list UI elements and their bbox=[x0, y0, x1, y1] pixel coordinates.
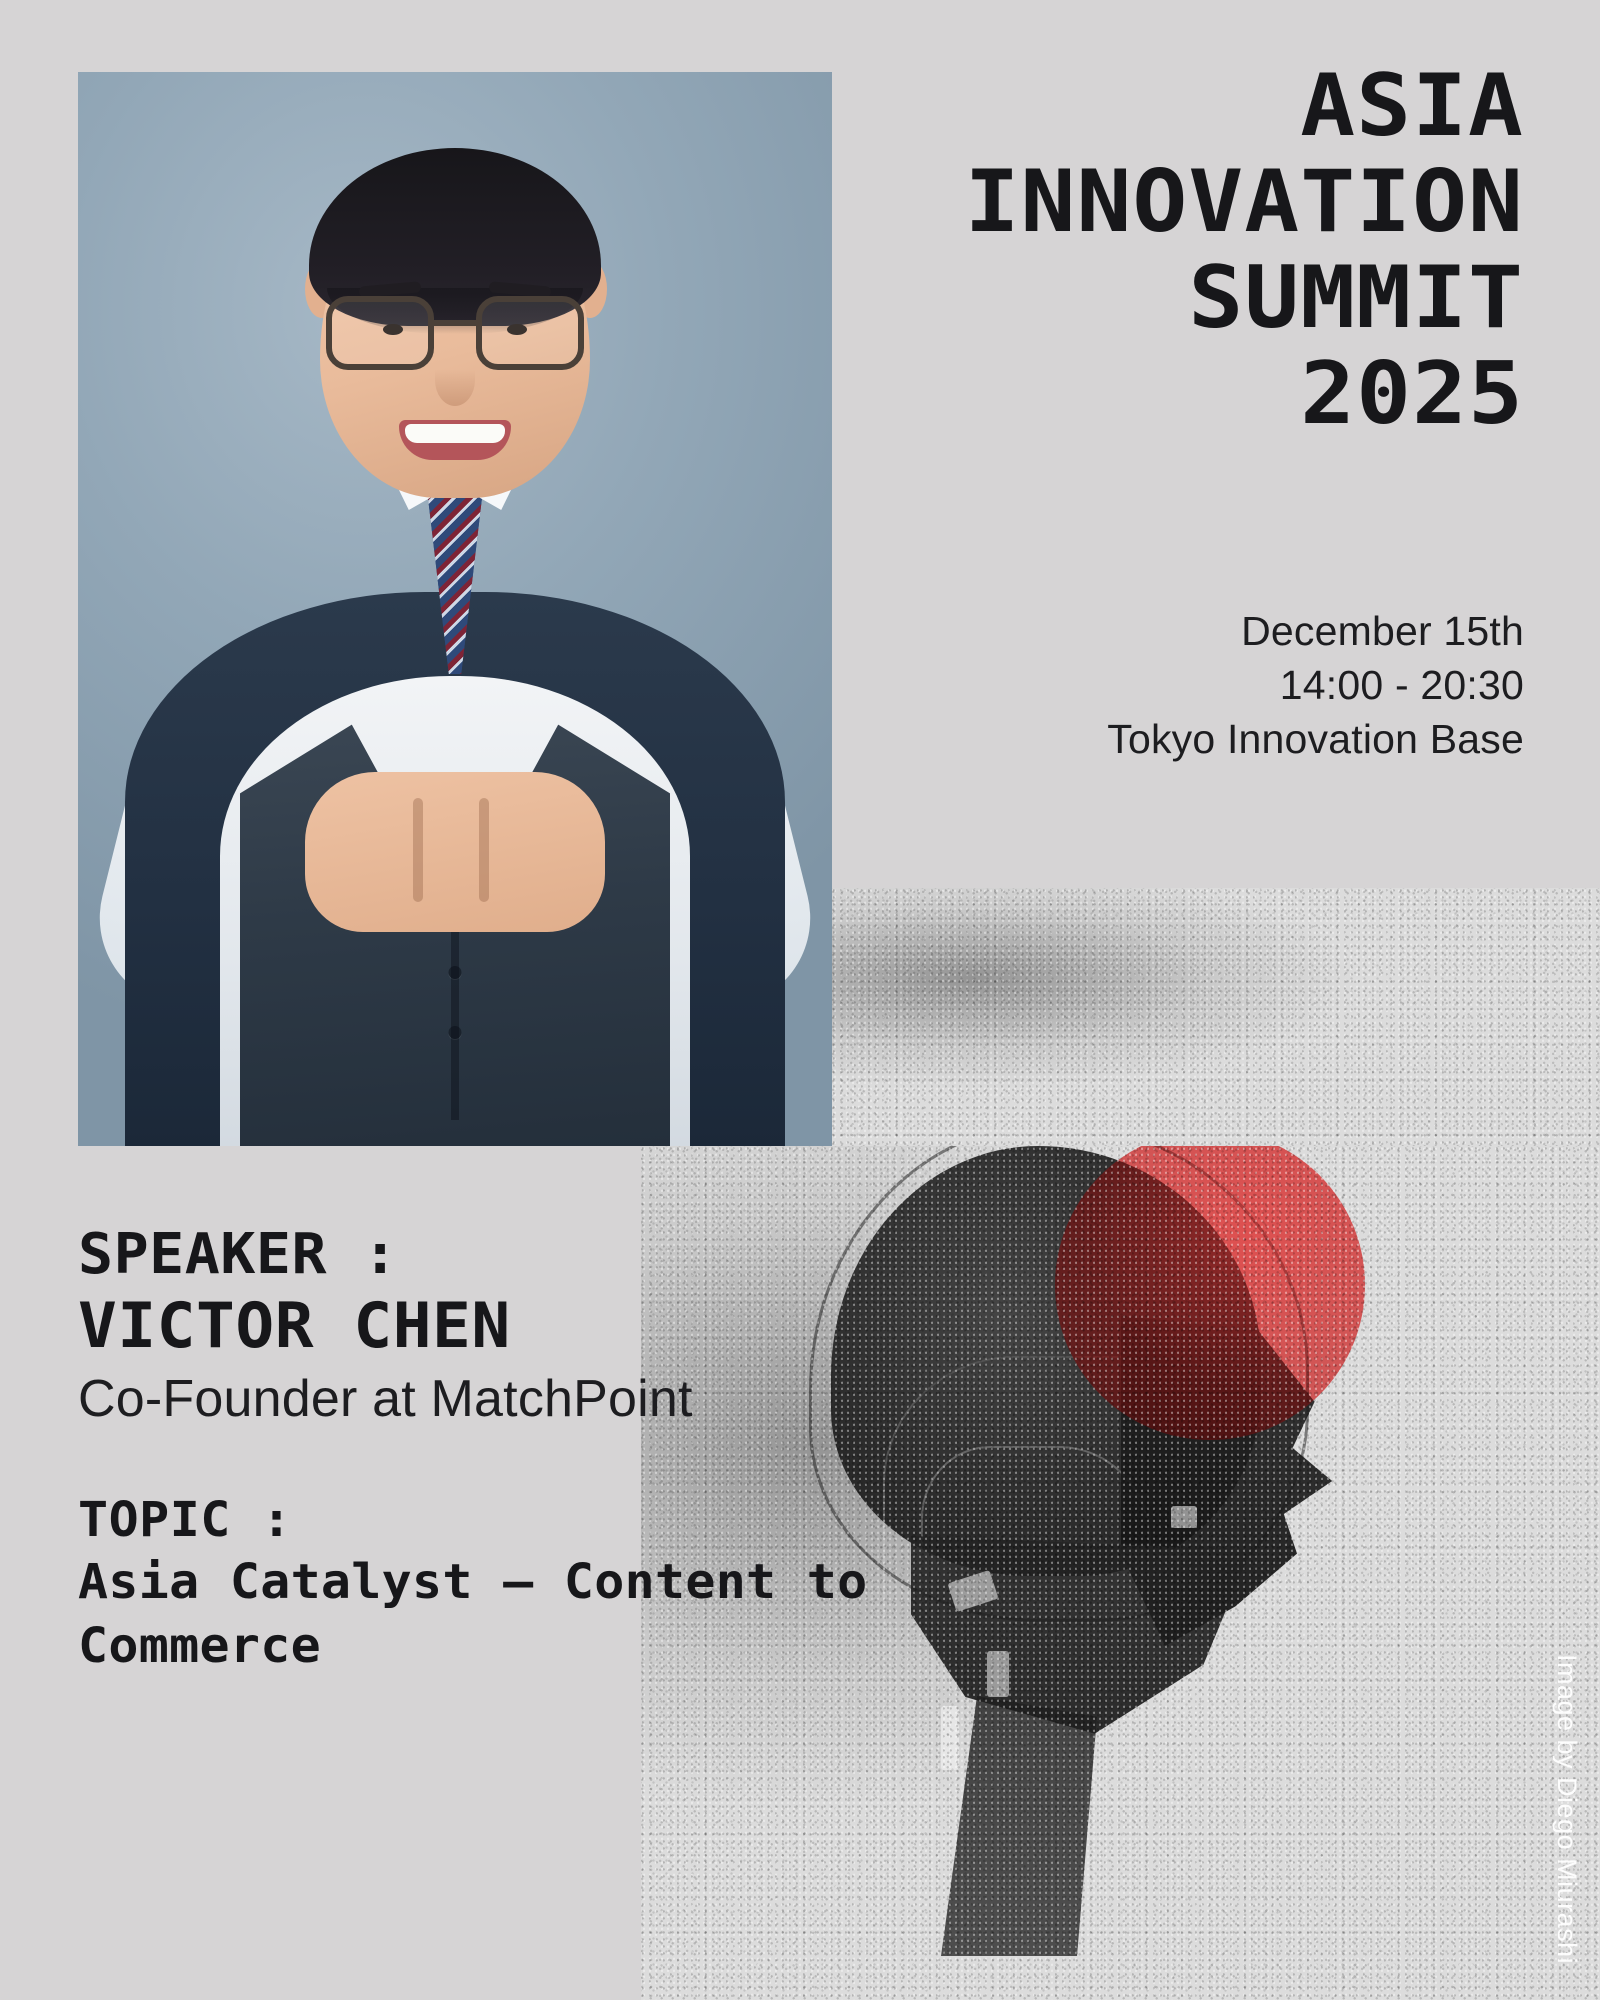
eyeglass-lens bbox=[476, 296, 584, 370]
artwork-vignette bbox=[832, 888, 1600, 1146]
red-brain-circle bbox=[1055, 1146, 1365, 1440]
topic-label: TOPIC : bbox=[78, 1490, 993, 1550]
speaker-name: VICTOR CHEN bbox=[78, 1288, 993, 1364]
highlight-fragment bbox=[1171, 1506, 1197, 1528]
neck-section bbox=[941, 1696, 1141, 1956]
title-line-summit: SUMMIT bbox=[655, 250, 1524, 346]
event-venue: Tokyo Innovation Base bbox=[824, 712, 1524, 766]
speaker-and-topic-block: SPEAKER : VICTOR CHEN Co-Founder at Matc… bbox=[78, 1222, 958, 1678]
event-poster: Image by Diego Miurashi ASIA INNOVATION … bbox=[0, 0, 1600, 2000]
topic-line-2: Commerce bbox=[78, 1614, 993, 1678]
waistcoat-button bbox=[449, 966, 462, 979]
portrait-clasped-hands bbox=[305, 772, 605, 932]
eyeglass-lens bbox=[326, 296, 434, 370]
portrait-smile bbox=[399, 420, 511, 460]
event-time: 14:00 - 20:30 bbox=[824, 658, 1524, 712]
image-credit: Image by Diego Miurashi bbox=[1551, 1654, 1582, 1964]
portrait-nose bbox=[435, 354, 475, 406]
title-line-asia: ASIA bbox=[655, 58, 1524, 154]
title-line-innovation: INNOVATION bbox=[655, 154, 1524, 250]
event-date: December 15th bbox=[824, 604, 1524, 658]
topic-line-1: Asia Catalyst – Content to bbox=[78, 1550, 993, 1614]
ai-artwork-upper-strip bbox=[832, 888, 1600, 1146]
event-details: December 15th 14:00 - 20:30 Tokyo Innova… bbox=[824, 604, 1524, 766]
highlight-fragment bbox=[941, 1706, 959, 1770]
waistcoat-button bbox=[449, 1026, 462, 1039]
speaker-role: Co-Founder at MatchPoint bbox=[78, 1364, 958, 1434]
eyeglass-bridge bbox=[434, 320, 476, 326]
title-line-year: 2025 bbox=[655, 346, 1524, 442]
portrait-teeth bbox=[405, 424, 506, 443]
page-title: ASIA INNOVATION SUMMIT 2025 bbox=[704, 58, 1524, 442]
speaker-label: SPEAKER : bbox=[78, 1222, 993, 1288]
